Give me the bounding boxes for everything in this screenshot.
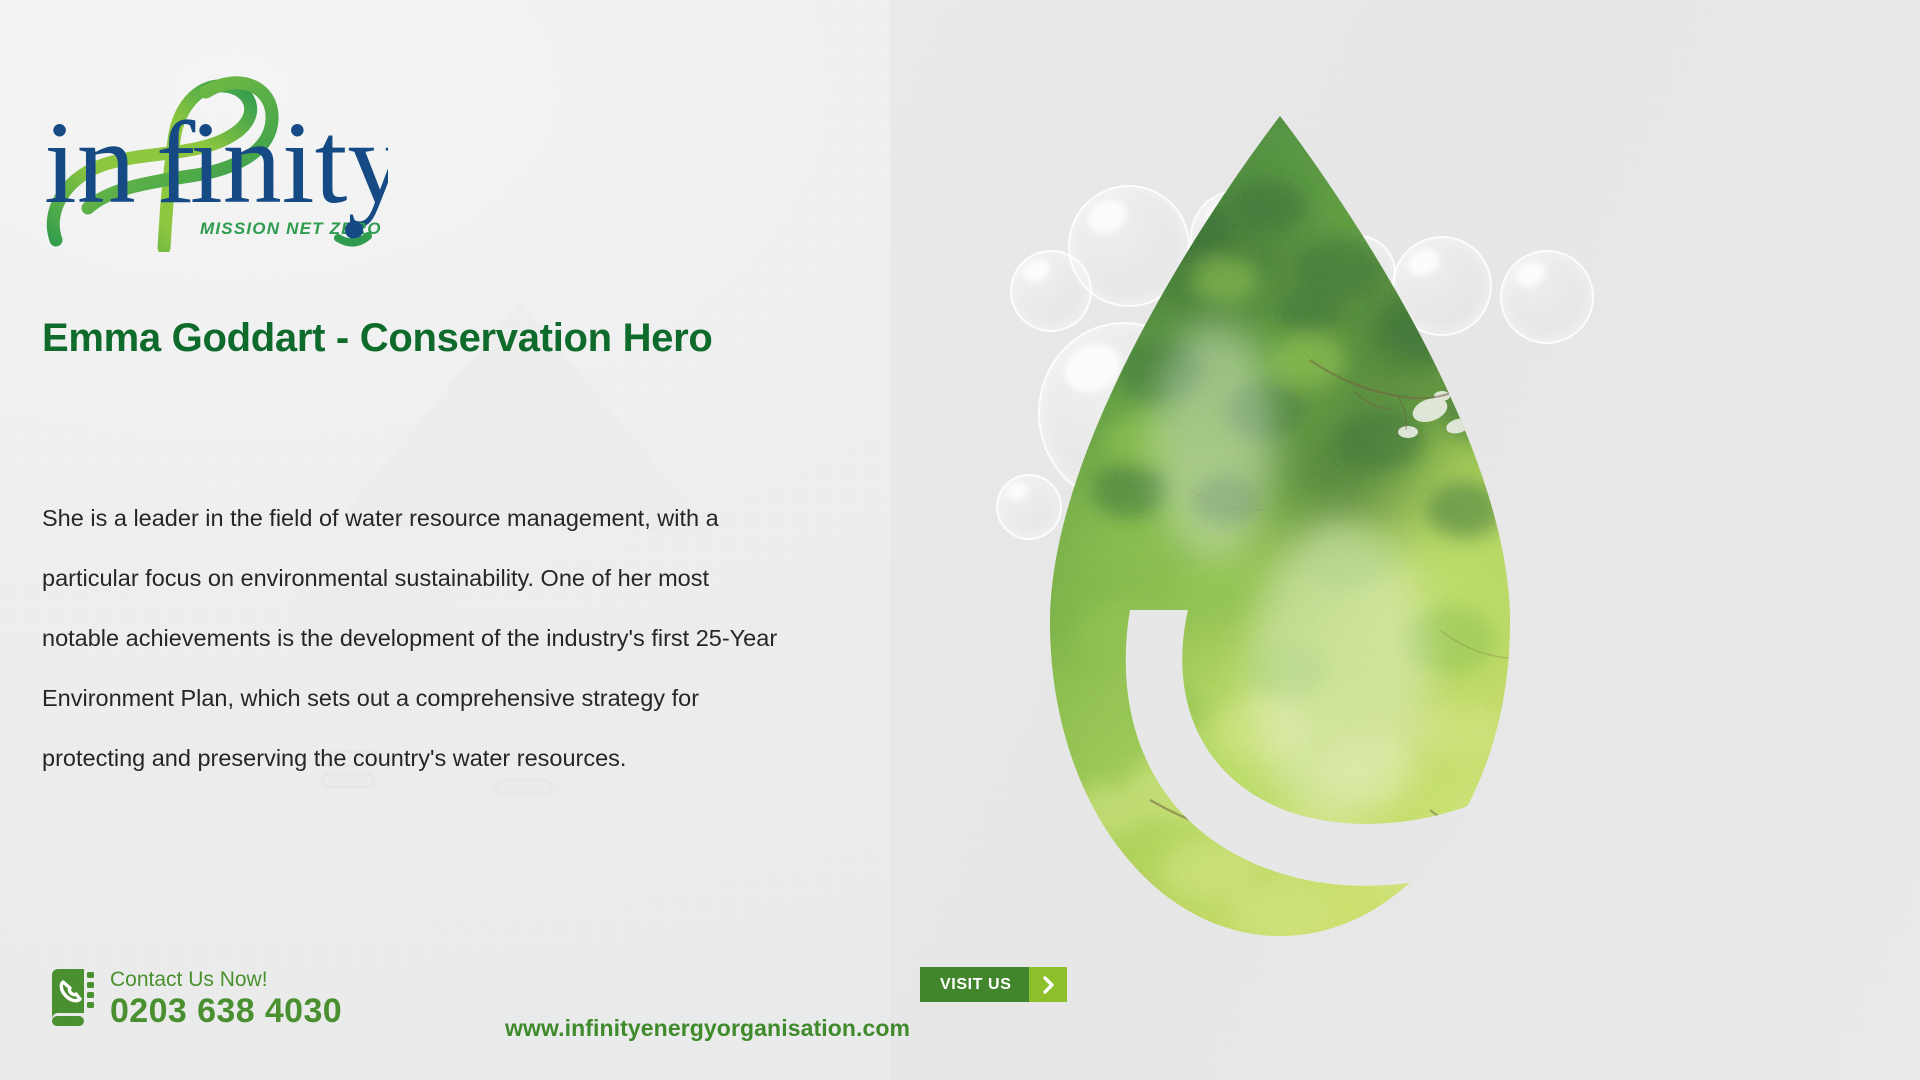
contact-label: Contact Us Now! <box>110 968 342 992</box>
contact-phone-number[interactable]: 0203 638 4030 <box>110 994 342 1030</box>
body-line: notable achievements is the development … <box>42 608 1002 668</box>
body-line: Environment Plan, which sets out a compr… <box>42 668 1002 728</box>
visit-us-button-label: VISIT US <box>920 967 1029 1002</box>
phonebook-icon <box>48 969 94 1029</box>
website-url[interactable]: www.infinityenergyorganisation.com <box>505 1015 910 1042</box>
body-line: protecting and preserving the country's … <box>42 728 1002 788</box>
page-title: Emma Goddart - Conservation Hero <box>42 315 942 361</box>
hero-droplet-image <box>1010 110 1550 950</box>
body-line: She is a leader in the field of water re… <box>42 488 1002 548</box>
chevron-right-icon <box>1029 967 1067 1002</box>
contact-block[interactable]: Contact Us Now! 0203 638 4030 <box>48 968 342 1030</box>
visit-us-button[interactable]: VISIT US <box>920 967 1067 1002</box>
svg-text:in: in <box>44 97 136 228</box>
svg-text:inity: inity <box>190 97 388 228</box>
body-copy: She is a leader in the field of water re… <box>42 488 1002 788</box>
brand-logo[interactable]: in f inity MISSION NET ZERO <box>38 62 388 252</box>
body-line: particular focus on environmental sustai… <box>42 548 1002 608</box>
